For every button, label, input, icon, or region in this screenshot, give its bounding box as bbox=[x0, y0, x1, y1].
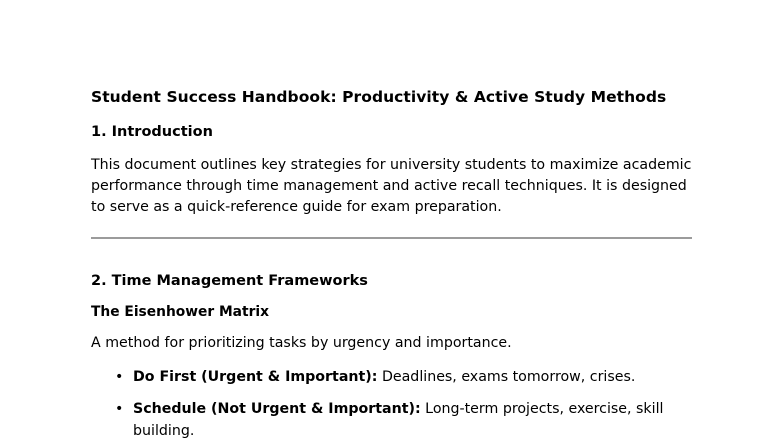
document-page: Student Success Handbook: Productivity &… bbox=[0, 0, 784, 441]
list-item: • Do First (Urgent & Important): Deadlin… bbox=[91, 367, 692, 388]
eisenhower-bullet-list: • Do First (Urgent & Important): Deadlin… bbox=[91, 367, 692, 442]
spacer-below-divider bbox=[91, 239, 692, 272]
spacer-above-divider bbox=[91, 218, 692, 237]
section-heading-introduction: 1. Introduction bbox=[91, 123, 692, 141]
section-heading-time-management: 2. Time Management Frameworks bbox=[91, 272, 692, 290]
bullet-point-icon: • bbox=[115, 399, 123, 420]
subsection-heading-eisenhower-matrix: The Eisenhower Matrix bbox=[91, 304, 692, 321]
list-item-lead: Do First (Urgent & Important): bbox=[133, 369, 377, 385]
introduction-paragraph: This document outlines key strategies fo… bbox=[91, 155, 692, 219]
bullet-point-icon: • bbox=[115, 367, 123, 388]
list-item: • Schedule (Not Urgent & Important): Lon… bbox=[91, 399, 692, 442]
document-title: Student Success Handbook: Productivity &… bbox=[91, 88, 692, 107]
list-item-text: Deadlines, exams tomorrow, crises. bbox=[377, 369, 635, 385]
spacer-above-bullets bbox=[91, 354, 692, 367]
list-item-lead: Schedule (Not Urgent & Important): bbox=[133, 401, 421, 417]
document-body: Student Success Handbook: Productivity &… bbox=[91, 88, 692, 442]
eisenhower-matrix-description: A method for prioritizing tasks by urgen… bbox=[91, 333, 692, 354]
